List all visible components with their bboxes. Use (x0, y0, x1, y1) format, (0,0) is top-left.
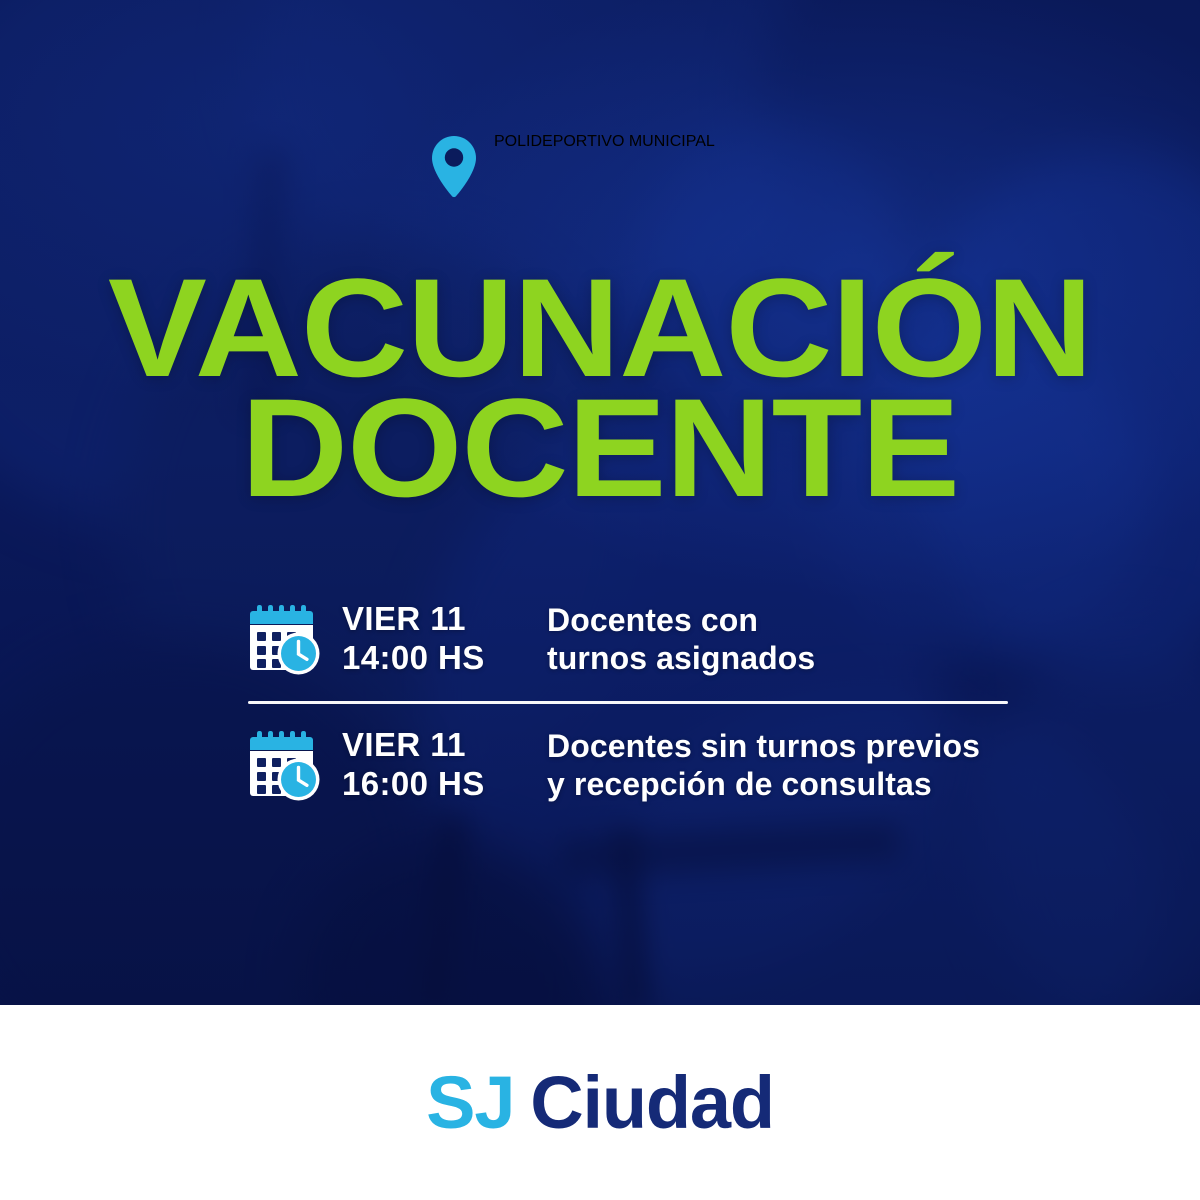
schedule-audience: Docentes con turnos asignados (547, 601, 1010, 678)
venue-name: POLIDEPORTIVO MUNICIPAL (494, 133, 715, 151)
sj-ciudad-logo: SJCiudad (426, 1066, 774, 1140)
schedule-list: VIER 11 14:00 HS Docentes con turnos asi… (248, 594, 1010, 810)
calendar-clock-icon (248, 729, 320, 801)
page-title: VACUNACIÓN DOCENTE (0, 268, 1200, 509)
venue-block: POLIDEPORTIVO MUNICIPAL (432, 133, 715, 198)
calendar-clock-icon (248, 603, 320, 675)
footer-band: SJCiudad (0, 1005, 1200, 1200)
logo-primary-text: SJ (426, 1061, 514, 1144)
schedule-row: VIER 11 16:00 HS Docentes sin turnos pre… (248, 720, 1010, 810)
logo-secondary-text: Ciudad (530, 1061, 774, 1144)
divider (248, 701, 1008, 704)
schedule-audience: Docentes sin turnos previos y recepción … (547, 727, 1010, 804)
vaccination-announcement-poster: POLIDEPORTIVO MUNICIPAL VACUNACIÓN DOCEN… (0, 0, 1200, 1200)
schedule-datetime: VIER 11 16:00 HS (342, 726, 547, 803)
schedule-datetime: VIER 11 14:00 HS (342, 600, 547, 677)
poster-content: POLIDEPORTIVO MUNICIPAL VACUNACIÓN DOCEN… (0, 0, 1200, 1005)
location-pin-icon (432, 136, 476, 198)
schedule-row: VIER 11 14:00 HS Docentes con turnos asi… (248, 594, 1010, 684)
